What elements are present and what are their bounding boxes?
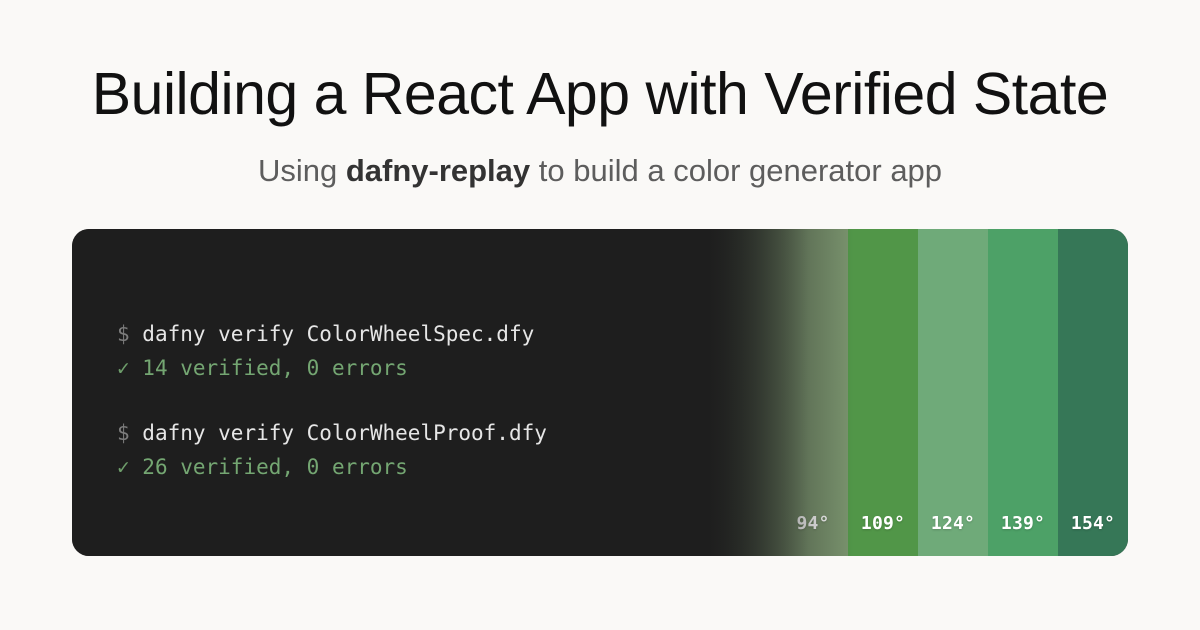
- terminal-command-line: $ dafny verify ColorWheelSpec.dfy: [117, 317, 547, 351]
- terminal-body: $ dafny verify ColorWheelSpec.dfy✓ 14 ve…: [72, 229, 1128, 556]
- poster-canvas: Building a React App with Verified State…: [0, 0, 1200, 630]
- check-icon: ✓: [117, 356, 142, 380]
- terminal-result-text: 26 verified, 0 errors: [142, 455, 408, 479]
- prompt-symbol: $: [117, 421, 142, 445]
- terminal-blank-line: [117, 385, 547, 416]
- terminal-result-line: ✓ 14 verified, 0 errors: [117, 351, 547, 385]
- terminal-result-line: ✓ 26 verified, 0 errors: [117, 450, 547, 484]
- terminal-command-text: dafny verify ColorWheelProof.dfy: [142, 421, 547, 445]
- page-title: Building a React App with Verified State: [0, 60, 1200, 130]
- header: Building a React App with Verified State…: [0, 0, 1200, 189]
- subtitle-prefix: Using: [258, 153, 346, 188]
- prompt-symbol: $: [117, 322, 142, 346]
- subtitle-package-name: dafny-replay: [346, 153, 530, 188]
- check-icon: ✓: [117, 455, 142, 479]
- terminal-result-text: 14 verified, 0 errors: [142, 356, 408, 380]
- terminal-command-text: dafny verify ColorWheelSpec.dfy: [142, 322, 534, 346]
- subtitle-suffix: to build a color generator app: [530, 153, 942, 188]
- page-subtitle: Using dafny-replay to build a color gene…: [0, 152, 1200, 189]
- terminal-panel: 94° 109° 124° 139° 154° $ dafny verify C…: [72, 229, 1128, 556]
- terminal-output: $ dafny verify ColorWheelSpec.dfy✓ 14 ve…: [117, 317, 547, 484]
- terminal-command-line: $ dafny verify ColorWheelProof.dfy: [117, 416, 547, 450]
